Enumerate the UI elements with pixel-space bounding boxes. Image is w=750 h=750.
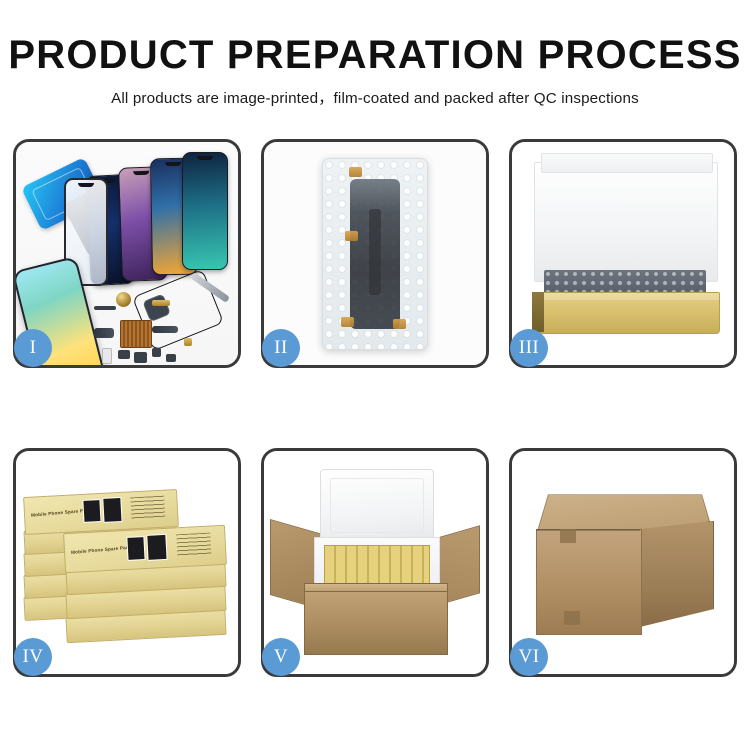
tape-piece-icon [345, 231, 358, 241]
panel-6-image [512, 451, 734, 674]
notch-icon [197, 156, 213, 160]
header: PRODUCT PREPARATION PROCESS All products… [0, 0, 750, 108]
phone-display-4-icon [182, 152, 228, 270]
retail-box-top-icon: Mobile Phone Spare Parts [23, 489, 179, 535]
step-badge-1: I [14, 329, 52, 367]
bracket-part-icon [118, 350, 130, 359]
panel-1-image [16, 142, 238, 365]
process-step-panel-5[interactable]: V [261, 448, 489, 677]
bubble-wrap-bag-icon [322, 158, 428, 350]
process-step-grid: I II III [13, 139, 737, 677]
page-subtitle: All products are image-printed，film-coat… [0, 86, 750, 108]
screw-part-icon [152, 348, 161, 357]
camera-module-part-icon [134, 352, 147, 363]
process-step-panel-2[interactable]: II [261, 139, 489, 368]
flex-cable-part-icon [94, 328, 114, 338]
notch-icon [165, 162, 181, 166]
process-step-panel-3[interactable]: III [509, 139, 737, 368]
gold-contact-part-icon [184, 338, 192, 346]
foam-lid-icon [534, 162, 718, 282]
tape-piece-icon [341, 317, 354, 327]
spec-text-block [130, 496, 165, 520]
carton-front-face-icon [536, 529, 642, 635]
connector-strip-part-icon [94, 306, 116, 310]
step-badge-3: III [510, 329, 548, 367]
process-step-panel-4[interactable]: Mobile Phone Spare Parts Mobile Phone Sp… [13, 448, 241, 677]
flex-cable-part-icon [152, 326, 178, 333]
process-step-panel-6[interactable]: VI [509, 448, 737, 677]
notch-icon [78, 183, 94, 187]
bubble-wrap-illustration [264, 142, 486, 365]
open-box-illustration [512, 142, 734, 365]
panel-4-image: Mobile Phone Spare Parts Mobile Phone Sp… [16, 451, 238, 674]
retail-box-stack: Mobile Phone Spare Parts Mobile Phone Sp… [24, 471, 230, 661]
panel-2-image [264, 142, 486, 365]
panel-3-image [512, 142, 734, 365]
kraft-box-base-icon [532, 292, 720, 334]
kraft-box-side-icon [532, 292, 544, 332]
sealed-carton-illustration [512, 451, 734, 674]
sim-tray-part-icon [102, 348, 112, 364]
panel-5-image [264, 451, 486, 674]
carton-packing-illustration [264, 451, 486, 674]
spec-text-block [176, 533, 211, 557]
step-badge-4: IV [14, 638, 52, 676]
notch-icon [133, 171, 149, 176]
foam-cooler-lid-icon [320, 469, 434, 543]
tape-piece-icon [349, 167, 362, 177]
carton-tape-icon [560, 529, 576, 543]
retail-box-top-icon: Mobile Phone Spare Parts [63, 525, 227, 573]
logic-board-part-icon [120, 320, 152, 348]
speaker-ring-part-icon [116, 292, 131, 307]
stacked-boxes-illustration: Mobile Phone Spare Parts Mobile Phone Sp… [16, 451, 238, 674]
carton-body-icon [304, 591, 448, 655]
step-badge-6: VI [510, 638, 548, 676]
page-title: PRODUCT PREPARATION PROCESS [0, 34, 750, 76]
tape-piece-icon [393, 319, 406, 329]
carton-side-face-icon [640, 521, 714, 627]
product-photo-icon [102, 497, 122, 523]
gold-bracket-part-icon [152, 300, 170, 306]
product-photo-icon [126, 536, 145, 561]
step-badge-2: II [262, 329, 300, 367]
carton-seam-icon [536, 529, 640, 531]
wrapped-phone-part-icon [350, 179, 400, 329]
step-badge-5: V [262, 638, 300, 676]
carton-tape-icon [564, 611, 580, 625]
product-photo-icon [82, 499, 101, 523]
product-photo-icon [146, 534, 167, 561]
phone-parts-illustration [16, 142, 238, 365]
box-label-text: Mobile Phone Spare Parts [71, 545, 133, 555]
process-step-panel-1[interactable]: I [13, 139, 241, 368]
spare-parts-cluster [94, 292, 214, 365]
button-part-icon [166, 354, 176, 362]
